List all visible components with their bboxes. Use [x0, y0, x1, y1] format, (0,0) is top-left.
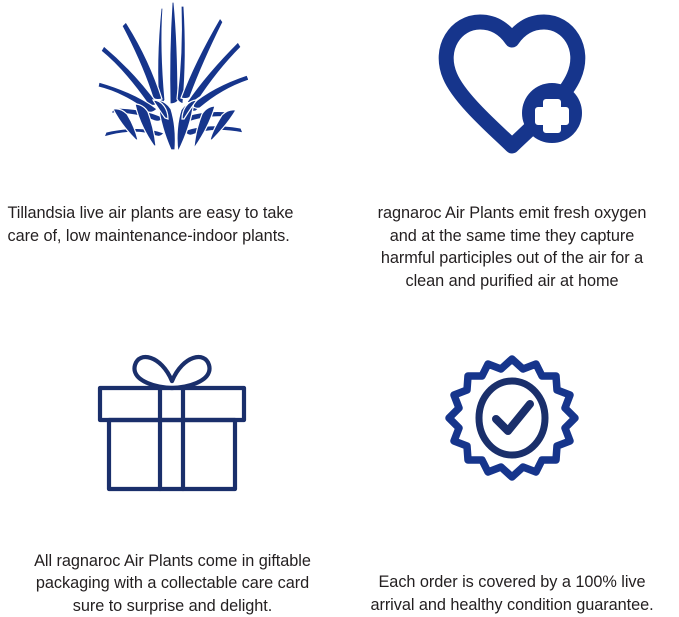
badge-starburst-shape	[449, 359, 575, 477]
badge-inner-circle	[479, 381, 545, 455]
air-plant-icon	[98, 0, 248, 160]
heart-plus-icon-wrap	[345, 0, 679, 189]
feature-cell-gift: All ragnaroc Air Plants come in giftable…	[0, 308, 345, 617]
air-plant-icon-wrap	[0, 0, 345, 175]
check-icon	[496, 404, 530, 431]
feature-cell-guarantee: Each order is covered by a 100% live arr…	[345, 308, 679, 617]
guarantee-badge-icon-wrap	[345, 308, 679, 558]
feature-caption-plant: Tillandsia live air plants are easy to t…	[3, 202, 343, 247]
heart-plus-icon	[436, 14, 588, 154]
feature-grid: Tillandsia live air plants are easy to t…	[0, 0, 679, 617]
feature-caption-oxygen: ragnaroc Air Plants emit fresh oxygen an…	[352, 202, 672, 292]
bow-left-loop	[134, 357, 172, 388]
gift-box-icon	[95, 343, 250, 493]
gift-lid	[100, 388, 244, 420]
bow-right-loop	[172, 357, 210, 388]
gift-box-icon-wrap	[0, 308, 345, 537]
feature-cell-oxygen: ragnaroc Air Plants emit fresh oxygen an…	[345, 0, 679, 308]
feature-cell-plant: Tillandsia live air plants are easy to t…	[0, 0, 345, 308]
feature-caption-guarantee: Each order is covered by a 100% live arr…	[349, 571, 675, 616]
feature-caption-gift: All ragnaroc Air Plants come in giftable…	[8, 550, 338, 617]
gift-body	[109, 420, 235, 489]
guarantee-badge-icon	[444, 353, 580, 493]
